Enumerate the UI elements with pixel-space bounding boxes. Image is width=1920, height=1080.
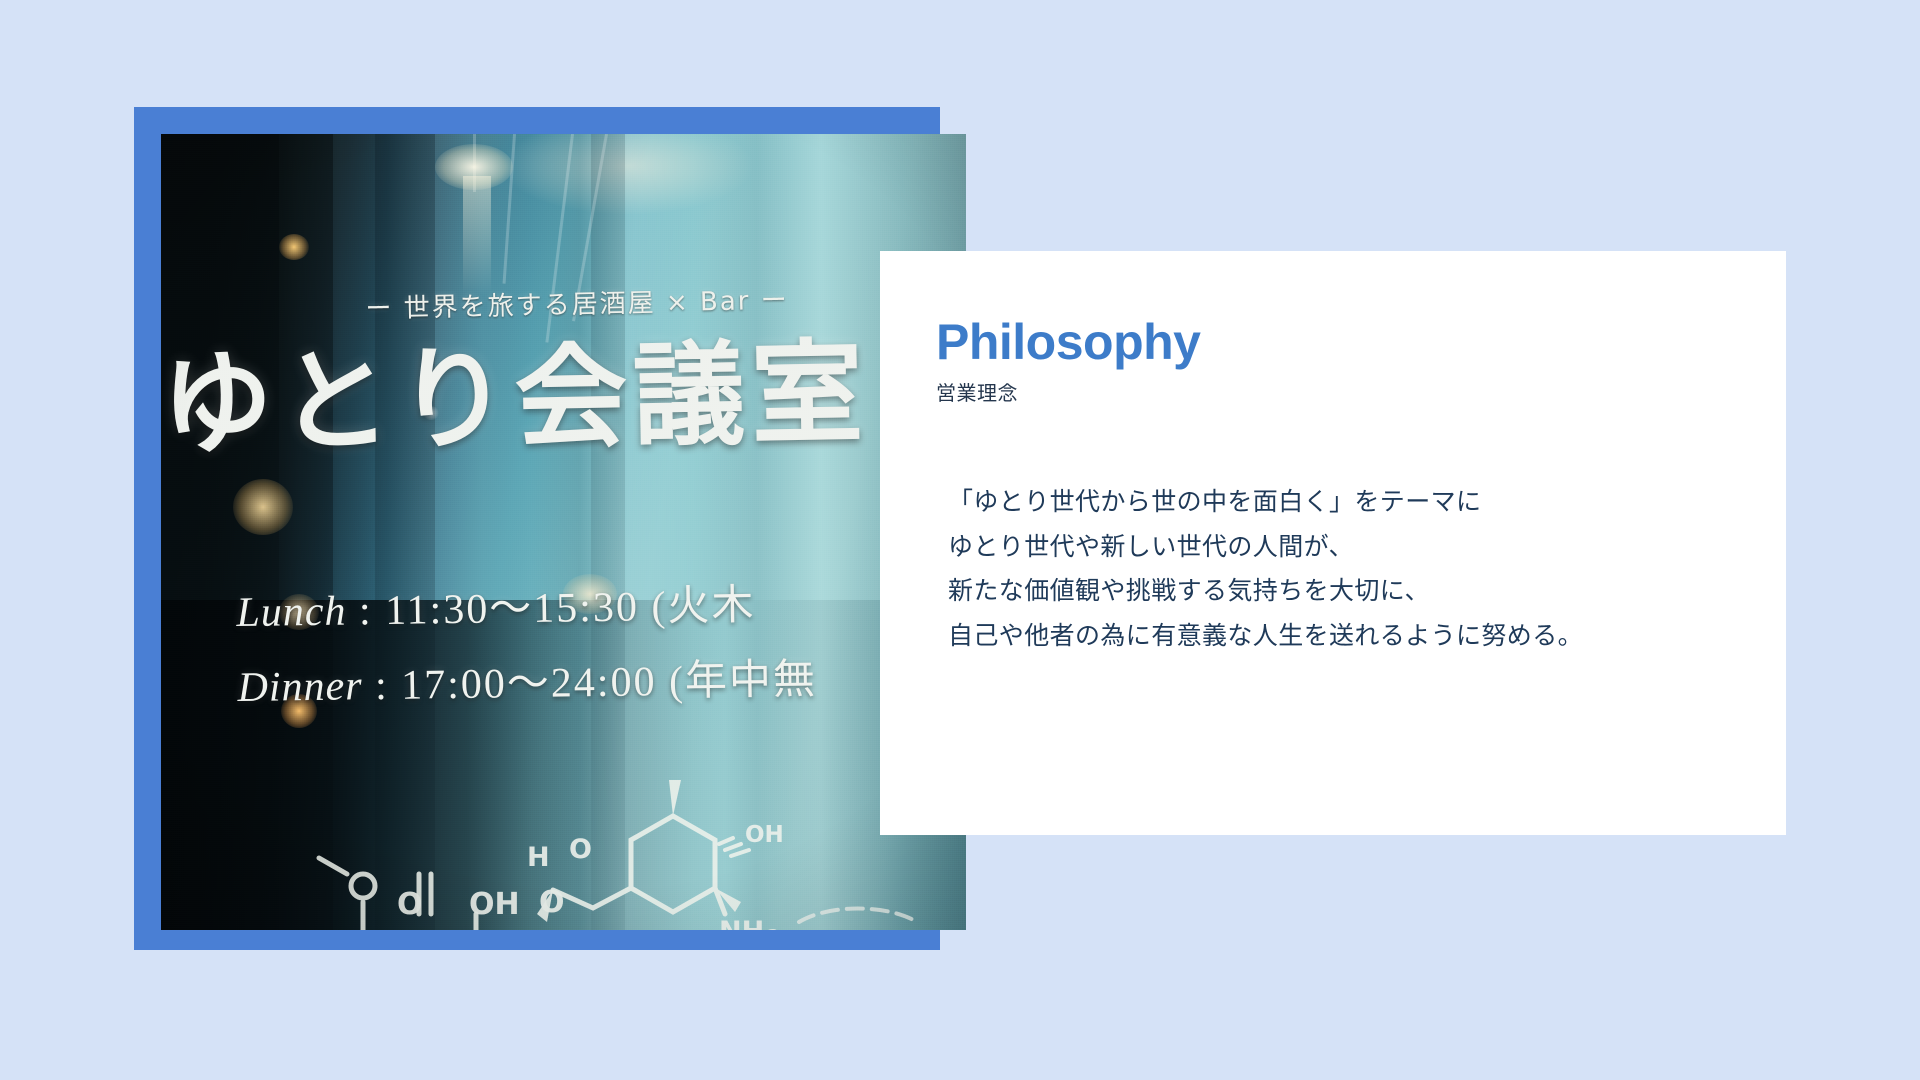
storefront-photo: ー 世界を旅する居酒屋 × Bar ー ゆとり会議室 Lunch : 11:30…	[161, 134, 966, 930]
philosophy-body-text: 「ゆとり世代から世の中を面白く」をテーマに ゆとり世代や新しい世代の人間が、 新…	[936, 480, 1746, 658]
page-subtitle: 営業理念	[936, 377, 1746, 406]
body-line-2: ゆとり世代や新しい世代の人間が、	[948, 525, 1746, 570]
photo-film-grain	[161, 134, 966, 930]
body-line-1: 「ゆとり世代から世の中を面白く」をテーマに	[948, 480, 1746, 525]
page-canvas: ー 世界を旅する居酒屋 × Bar ー ゆとり会議室 Lunch : 11:30…	[0, 0, 1920, 1080]
photo-inner: ー 世界を旅する居酒屋 × Bar ー ゆとり会議室 Lunch : 11:30…	[161, 134, 966, 930]
body-line-3: 新たな価値観や挑戦する気持ちを大切に、	[948, 569, 1746, 614]
philosophy-card: Philosophy 営業理念 「ゆとり世代から世の中を面白く」をテーマに ゆと…	[880, 251, 1786, 835]
body-line-4: 自己や他者の為に有意義な人生を送れるように努める。	[948, 614, 1746, 659]
philosophy-card-content: Philosophy 営業理念 「ゆとり世代から世の中を面白く」をテーマに ゆと…	[936, 316, 1746, 658]
page-title: Philosophy	[936, 316, 1746, 369]
